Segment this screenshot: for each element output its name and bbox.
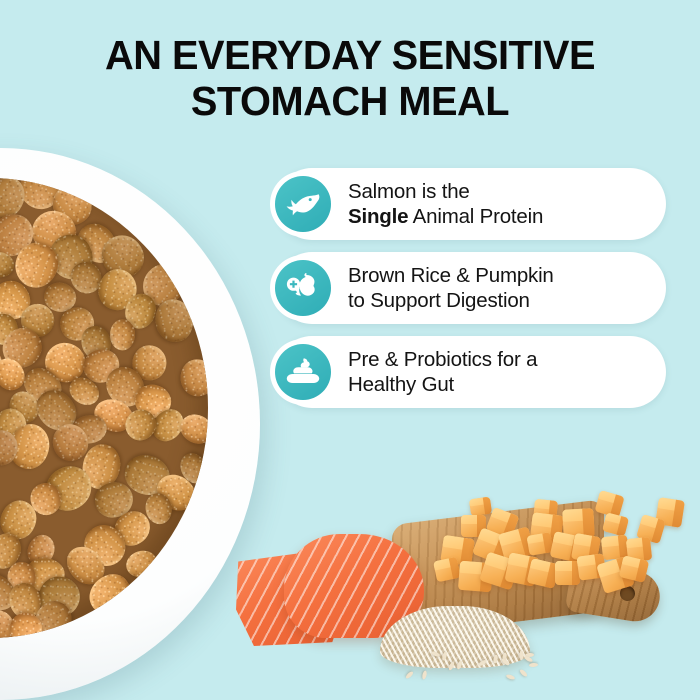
feature-item-probiotics[interactable]: Pre & Probiotics for a Healthy Gut [276,336,666,408]
feature-label: Salmon is the Single Animal Protein [348,179,543,229]
rice-grain [421,670,427,680]
pumpkin-cube [555,561,581,585]
cube-side-face [583,508,595,538]
feature-label: Pre & Probiotics for a Healthy Gut [348,347,537,397]
feature-icon-wrap [270,171,336,237]
feature-line-1: Brown Rice & Pumpkin [348,264,554,287]
rice-grain [519,668,528,677]
pumpkin-cube [433,556,461,581]
feature-label: Brown Rice & Pumpkin to Support Digestio… [348,263,554,313]
feature-list: Salmon is the Single Animal Protein [276,168,666,420]
stool-gut-icon [275,344,331,400]
diced-pumpkin [430,496,660,606]
pumpkin-cube [526,532,553,555]
rice-grain [529,663,538,668]
feature-line-2: Healthy Gut [348,373,454,396]
rice-grain [519,650,524,659]
feature-item-salmon[interactable]: Salmon is the Single Animal Protein [276,168,666,240]
feature-line-1: Pre & Probiotics for a [348,348,537,371]
salmon-fish-icon [275,176,331,232]
cube-side-face [482,497,491,515]
product-feature-graphic: AN EVERYDAY SENSITIVE STOMACH MEAL [0,0,700,700]
brown-rice-pile [372,598,538,680]
feature-item-digestion[interactable]: Brown Rice & Pumpkin to Support Digestio… [276,252,666,324]
rice-grain [405,670,414,679]
feature-line-2: to Support Digestion [348,289,530,312]
feature-line-1: Salmon is the [348,180,470,203]
feature-icon-wrap [270,339,336,405]
pumpkin-cube [602,512,629,536]
feature-line-2: Animal Protein [408,205,543,228]
feature-line-2-emphasis: Single [348,205,408,228]
rice-grain [505,673,515,680]
feature-icon-wrap [270,255,336,321]
page-title: AN EVERYDAY SENSITIVE STOMACH MEAL [11,32,690,124]
stomach-health-icon [275,260,331,316]
rice-mound [380,606,530,668]
